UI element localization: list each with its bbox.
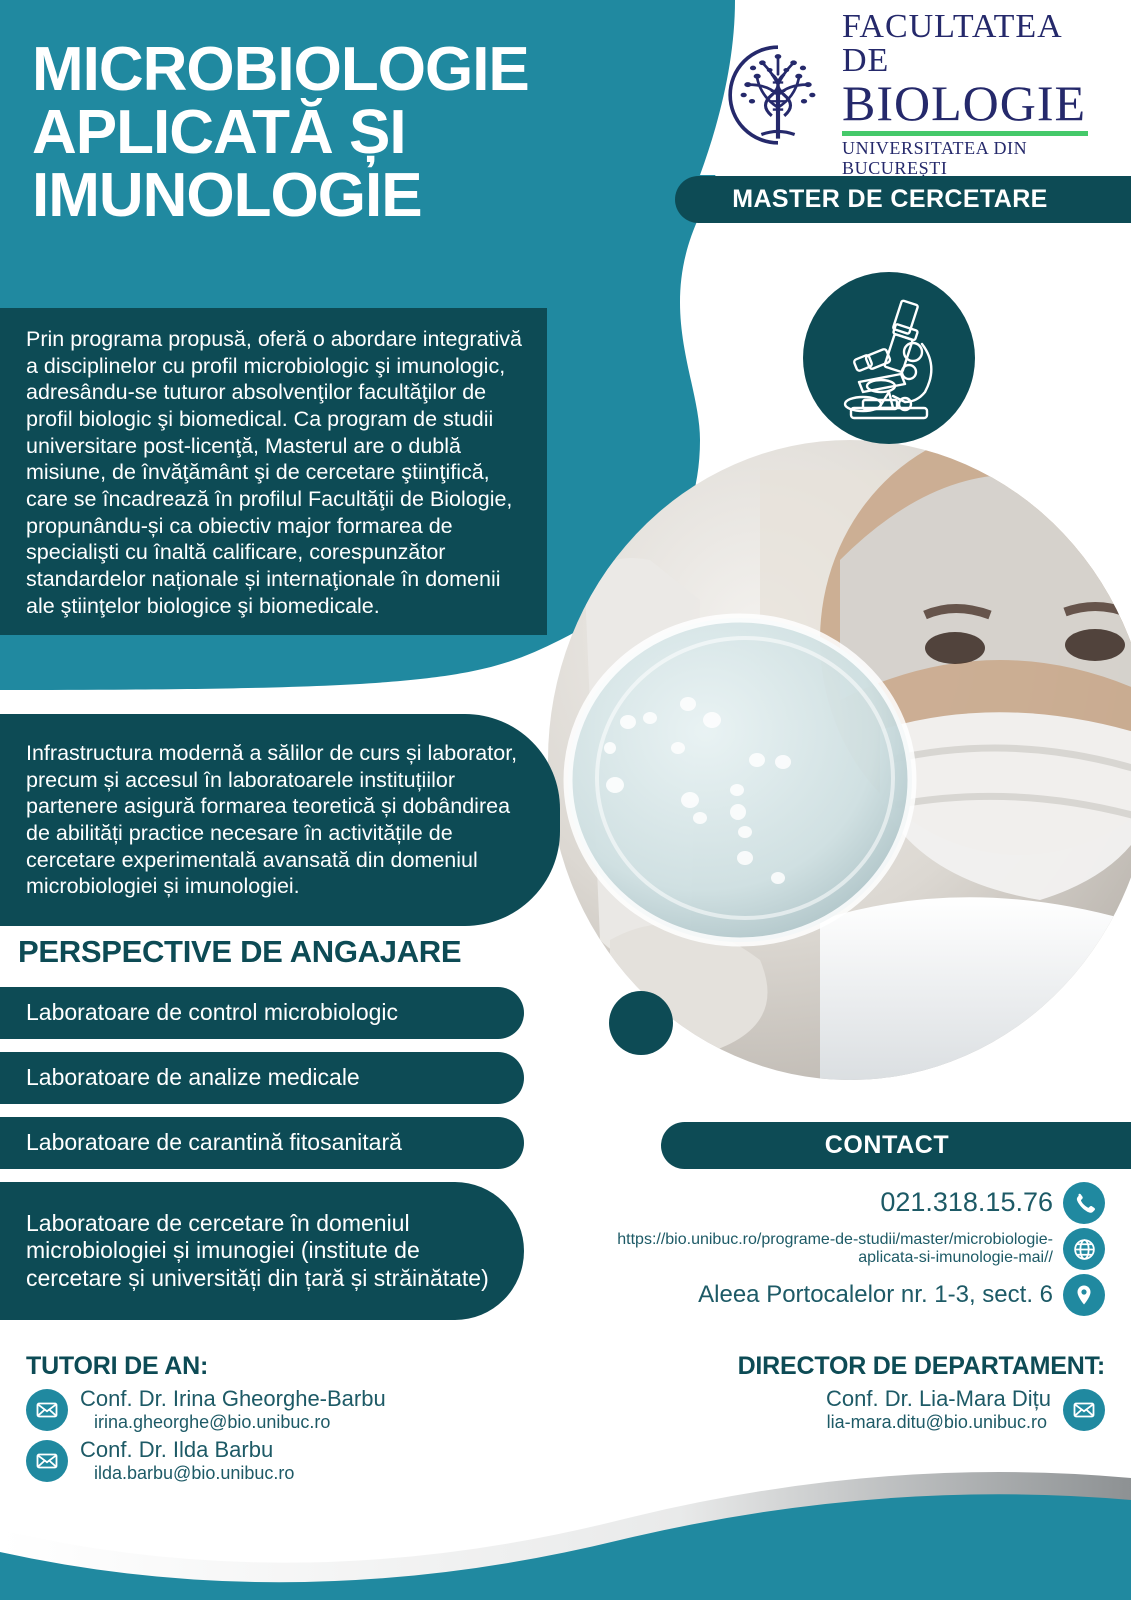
tutors-heading: TUTORI DE AN: — [26, 1352, 496, 1381]
map-pin-icon — [1063, 1274, 1105, 1316]
logo-divider — [842, 131, 1088, 136]
tutor-1[interactable]: Conf. Dr. Ilda Barbu ilda.barbu@bio.unib… — [26, 1438, 496, 1483]
director-0-info: Conf. Dr. Lia-Mara Dițu lia-mara.ditu@bi… — [826, 1387, 1051, 1432]
contact-website-text: https://bio.unibuc.ro/programe-de-studii… — [560, 1231, 1053, 1268]
microscope-icon — [829, 296, 949, 420]
logo-text: FACULTATEA DE BIOLOGIE UNIVERSITATEA DIN… — [842, 10, 1088, 179]
contact-address-text: Aleea Portocalelor nr. 1-3, sect. 6 — [698, 1282, 1053, 1308]
faculty-logo: FACULTATEA DE BIOLOGIE UNIVERSITATEA DIN… — [726, 32, 1088, 157]
tutor-0[interactable]: Conf. Dr. Irina Gheorghe-Barbu irina.ghe… — [26, 1387, 496, 1432]
perspective-heading: PERSPECTIVE DE ANGAJARE — [18, 934, 461, 970]
logo-line-1: FACULTATEA DE — [842, 10, 1088, 78]
tutor-0-email[interactable]: irina.gheorghe@bio.unibuc.ro — [80, 1412, 386, 1433]
poster-root: MICROBIOLOGIE APLICATĂ ȘI IMUNOLOGIE FAC… — [0, 0, 1131, 1600]
director-0-email[interactable]: lia-mara.ditu@bio.unibuc.ro — [827, 1412, 1051, 1433]
tutor-1-email[interactable]: ilda.barbu@bio.unibuc.ro — [80, 1463, 294, 1484]
director-section: DIRECTOR DE DEPARTAMENT: Conf. Dr. Lia-M… — [560, 1352, 1105, 1438]
tutor-1-info: Conf. Dr. Ilda Barbu ilda.barbu@bio.unib… — [80, 1438, 294, 1483]
contact-list: 021.318.15.76 https://bio.unibuc.ro/prog… — [560, 1182, 1105, 1316]
intro-paragraph-2: Infrastructura modernă a sălilor de curs… — [0, 714, 560, 926]
contact-heading: CONTACT — [661, 1122, 1131, 1169]
contact-website-row[interactable]: https://bio.unibuc.ro/programe-de-studii… — [560, 1228, 1105, 1270]
page-title: MICROBIOLOGIE APLICATĂ ȘI IMUNOLOGIE — [32, 38, 672, 228]
microscope-badge — [803, 272, 975, 444]
globe-icon — [1063, 1228, 1105, 1270]
contact-phone-text: 021.318.15.76 — [880, 1188, 1053, 1218]
logo-line-3: UNIVERSITATEA DIN BUCUREȘTI — [842, 139, 1088, 179]
tutor-1-name: Conf. Dr. Ilda Barbu — [80, 1438, 294, 1463]
perspective-item-1[interactable]: Laboratoare de analize medicale — [0, 1052, 524, 1104]
tutor-0-name: Conf. Dr. Irina Gheorghe-Barbu — [80, 1387, 386, 1412]
perspective-item-2[interactable]: Laboratoare de carantină fitosanitară — [0, 1117, 524, 1169]
master-ribbon: MASTER DE CERCETARE — [675, 176, 1131, 223]
director-heading: DIRECTOR DE DEPARTAMENT: — [560, 1352, 1105, 1381]
logo-line-2: BIOLOGIE — [842, 78, 1088, 128]
decor-circle-small — [609, 991, 673, 1055]
director-0-name: Conf. Dr. Lia-Mara Dițu — [826, 1387, 1051, 1412]
intro-paragraph-1: Prin programa propusă, oferă o abordare … — [0, 308, 547, 635]
envelope-icon — [26, 1440, 68, 1482]
envelope-icon — [1063, 1389, 1105, 1431]
director-0[interactable]: Conf. Dr. Lia-Mara Dițu lia-mara.ditu@bi… — [560, 1387, 1105, 1432]
perspective-item-0[interactable]: Laboratoare de control microbiologic — [0, 987, 524, 1039]
phone-icon — [1063, 1182, 1105, 1224]
perspective-item-3[interactable]: Laboratoare de cercetare în domeniul mic… — [0, 1182, 524, 1320]
tutors-section: TUTORI DE AN: Conf. Dr. Irina Gheorghe-B… — [26, 1352, 496, 1490]
tutor-0-info: Conf. Dr. Irina Gheorghe-Barbu irina.ghe… — [80, 1387, 386, 1432]
tree-dna-logo-icon — [726, 43, 830, 147]
contact-address-row[interactable]: Aleea Portocalelor nr. 1-3, sect. 6 — [560, 1274, 1105, 1316]
envelope-icon — [26, 1389, 68, 1431]
contact-phone-row[interactable]: 021.318.15.76 — [560, 1182, 1105, 1224]
